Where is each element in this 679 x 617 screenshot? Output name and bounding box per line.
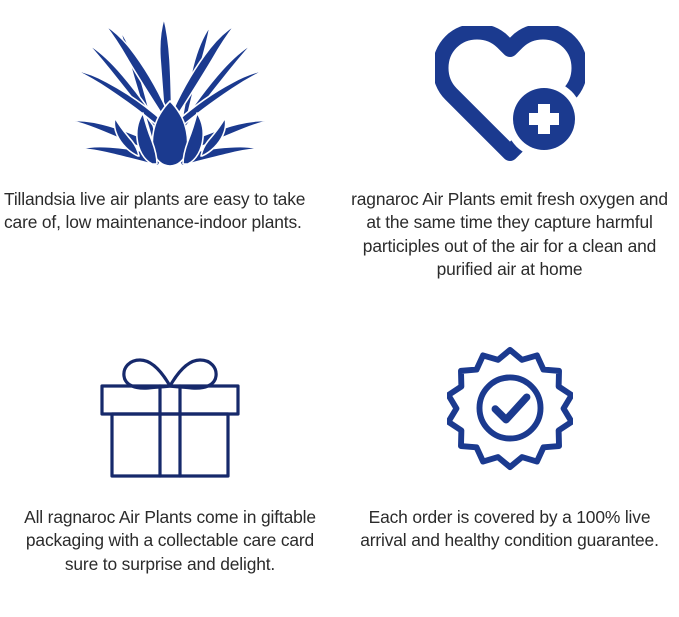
- gift-body: [112, 414, 228, 476]
- bow-left-loop: [124, 360, 170, 388]
- gift-box-icon: [94, 334, 246, 480]
- seal-inner-circle: [479, 377, 540, 438]
- feature-card-air-plant-care: Tillandsia live air plants are easy to t…: [0, 0, 340, 308]
- feature-caption-fresh-oxygen: ragnaroc Air Plants emit fresh oxygen an…: [340, 188, 679, 281]
- gift-box-icon-wrap: [0, 308, 340, 506]
- feature-caption-giftable-packaging: All ragnaroc Air Plants come in giftable…: [0, 506, 340, 576]
- checkmark-icon: [495, 397, 527, 420]
- seal-rosette: [448, 350, 571, 467]
- feature-caption-arrival-guarantee: Each order is covered by a 100% live arr…: [340, 506, 679, 553]
- guarantee-badge-icon-wrap: [340, 308, 679, 506]
- feature-card-arrival-guarantee: Each order is covered by a 100% live arr…: [340, 308, 679, 617]
- air-plant-icon-wrap: [0, 0, 340, 188]
- guarantee-badge-icon: [447, 343, 573, 471]
- gift-lid: [102, 386, 238, 414]
- heart-plus-icon-wrap: [340, 0, 679, 188]
- feature-grid: Tillandsia live air plants are easy to t…: [0, 0, 679, 617]
- heart-plus-icon: [435, 26, 585, 162]
- feature-card-fresh-oxygen: ragnaroc Air Plants emit fresh oxygen an…: [340, 0, 679, 308]
- bow-right-loop: [170, 360, 216, 388]
- feature-caption-air-plant-care: Tillandsia live air plants are easy to t…: [0, 188, 340, 235]
- feature-card-giftable-packaging: All ragnaroc Air Plants come in giftable…: [0, 308, 340, 617]
- air-plant-icon: [72, 14, 268, 174]
